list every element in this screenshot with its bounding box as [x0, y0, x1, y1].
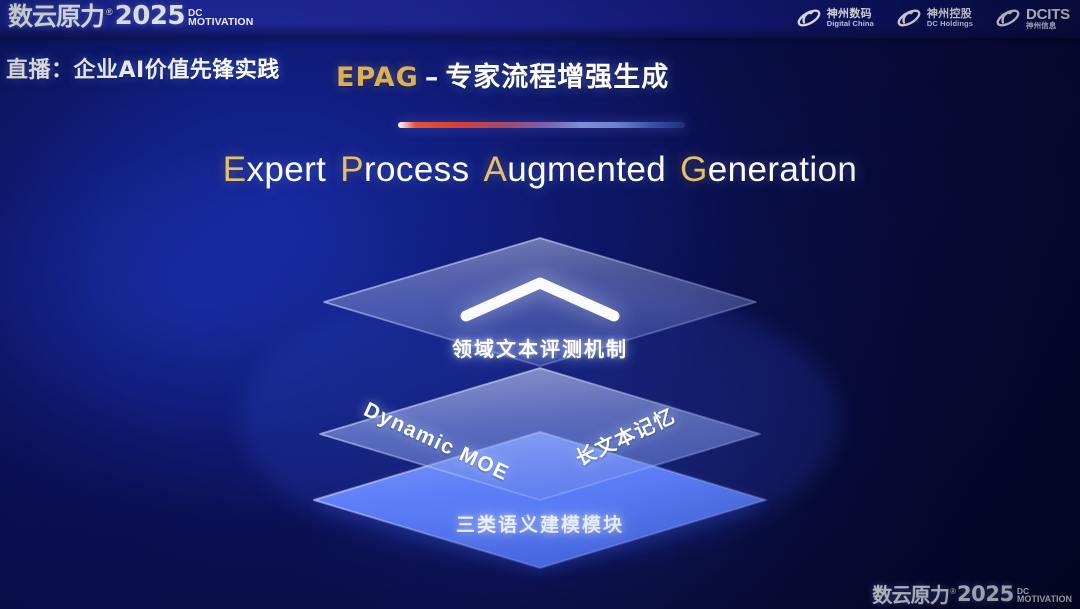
- logo-label-en: Digital China: [827, 20, 874, 28]
- watermark-tagline: DC MOTIVATION: [1017, 587, 1072, 604]
- logo-label-en: DCITS: [1026, 7, 1070, 22]
- bottom-layer-shadow: [314, 437, 766, 573]
- logo-label-cn: 神州信息: [1026, 22, 1070, 30]
- diagram-layer-middle: [320, 368, 760, 500]
- brand-name-cn: 数云原力: [8, 4, 104, 29]
- live-stream-label: 直播：企业AI价值先锋实践: [6, 52, 280, 84]
- brand-tagline: DC MOTIVATION: [188, 9, 253, 28]
- swirl-logo-icon: [796, 5, 822, 31]
- logo-dc-holdings: 神州控股 DC Holdings: [896, 5, 973, 31]
- page-title: EPAG–专家流程增强生成: [336, 55, 669, 94]
- title-chinese: 专家流程增强生成: [445, 62, 669, 93]
- title-dash: –: [425, 62, 440, 93]
- bottom-layer-label: 三类语义建模模块: [0, 510, 1080, 537]
- presentation-slide: 数云原力 ® 2025 DC MOTIVATION 神州数码 Digital C…: [0, 0, 1080, 609]
- watermark-year: 2025: [957, 584, 1014, 605]
- subtitle-word: Generation: [680, 150, 857, 189]
- brand-year: 2025: [115, 3, 185, 29]
- subtitle-remainder: ugmented: [507, 150, 666, 189]
- subtitle-initial: E: [223, 150, 247, 189]
- footer-watermark: 数云原力 ® 2025 DC MOTIVATION: [872, 584, 1072, 605]
- bottom-layer-face: [314, 432, 766, 568]
- subtitle-remainder: rocess: [364, 150, 470, 189]
- brand-lockup: 数云原力 ® 2025 DC MOTIVATION: [8, 3, 253, 29]
- bottom-layer-edge: [314, 432, 766, 568]
- subtitle-initial: G: [680, 150, 708, 189]
- chevron-up-icon: [466, 283, 614, 316]
- middle-layer-edge: [320, 368, 760, 500]
- subtitle-remainder: xpert: [246, 150, 326, 189]
- subtitle-word: Process: [340, 150, 469, 189]
- subtitle-word: Augmented: [484, 150, 667, 189]
- watermark-motivation-text: MOTIVATION: [1017, 595, 1072, 604]
- subtitle-remainder: eneration: [708, 150, 858, 189]
- subtitle-word: Expert: [223, 150, 327, 189]
- diagram-layer-bottom: [314, 432, 766, 573]
- title-acronym: EPAG: [336, 62, 419, 93]
- subtitle-initial: P: [340, 150, 364, 189]
- logo-dc-holdings-text: 神州控股 DC Holdings: [927, 8, 973, 27]
- swirl-logo-icon: [995, 5, 1021, 31]
- middle-layer-label-right: 长文本记忆: [570, 400, 680, 472]
- middle-layer-label-left: Dynamic MOE: [360, 398, 513, 486]
- middle-layer-face: [320, 368, 760, 500]
- subtitle-initial: A: [484, 150, 508, 189]
- gradient-divider: [398, 122, 685, 128]
- watermark-name-cn: 数云原力: [872, 585, 949, 605]
- registered-mark-icon: ®: [950, 587, 956, 596]
- registered-mark-icon: ®: [106, 7, 113, 17]
- logo-digital-china-text: 神州数码 Digital China: [827, 8, 874, 27]
- logo-dcits: DCITS 神州信息: [995, 5, 1070, 31]
- swirl-logo-icon: [896, 5, 922, 31]
- logo-digital-china: 神州数码 Digital China: [796, 5, 874, 31]
- logo-label-en: DC Holdings: [927, 20, 973, 28]
- top-layer-label: 领域文本评测机制: [0, 333, 1080, 362]
- brand-motivation-text: MOTIVATION: [188, 18, 253, 28]
- logo-dcits-text: DCITS 神州信息: [1026, 7, 1070, 30]
- page-subtitle: ExpertProcessAugmentedGeneration: [0, 150, 1080, 190]
- partner-logo-cluster: 神州数码 Digital China 神州控股 DC Holdings DCIT…: [796, 5, 1070, 31]
